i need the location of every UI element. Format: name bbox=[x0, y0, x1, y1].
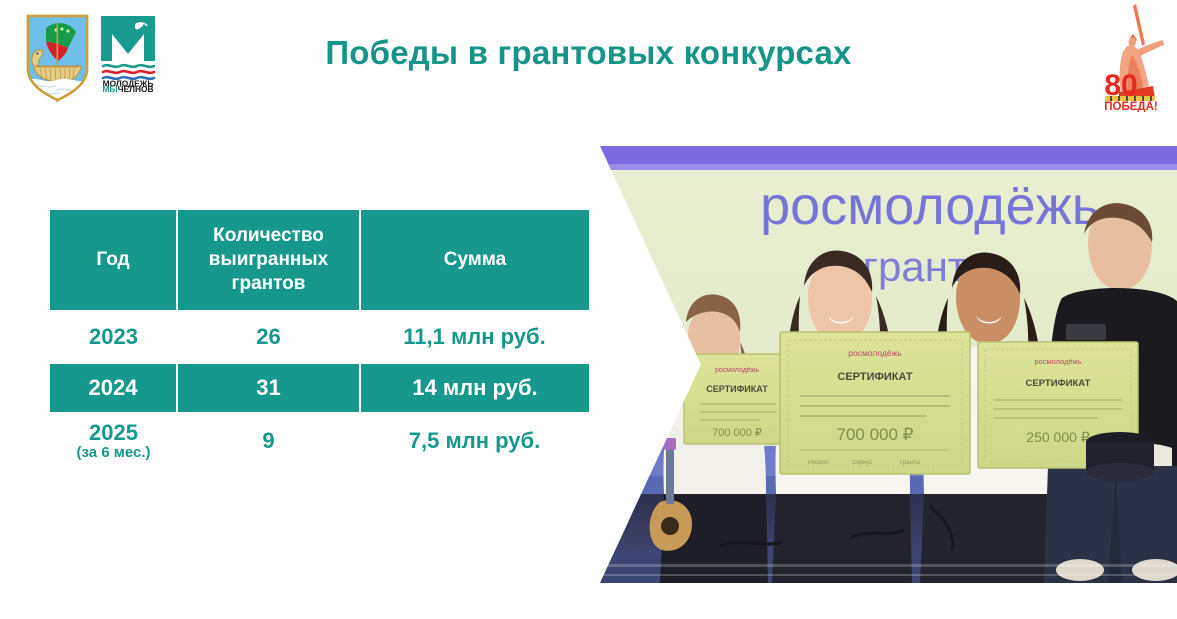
youth-logo-line2: ЧЕЛНОВ bbox=[118, 84, 154, 92]
table-header-row: Год Количество выигранных грантов Сумма bbox=[50, 210, 589, 310]
column-header-count-line3: грантов bbox=[232, 273, 306, 294]
column-header-sum-label: Сумма bbox=[444, 249, 506, 270]
column-header-year: Год bbox=[50, 210, 177, 310]
cell-count: 26 bbox=[177, 310, 360, 364]
certificate-brand-3: росмолодёжь bbox=[1034, 357, 1081, 366]
column-header-year-label: Год bbox=[96, 249, 129, 270]
cell-sum: 7,5 млн руб. bbox=[360, 412, 589, 470]
table-body: 2023 26 11,1 млн руб. 2024 31 14 млн руб… bbox=[50, 310, 589, 470]
drum-kit bbox=[1086, 432, 1154, 481]
cell-year: 2025 (за 6 мес.) bbox=[50, 412, 177, 470]
youth-logo-line2-highlight: МЫ bbox=[102, 84, 117, 92]
certificate-1: росмолодёжь СЕРТИФИКАТ 700 000 ₽ bbox=[684, 354, 790, 444]
svg-text:Сириус: Сириус bbox=[852, 460, 872, 466]
svg-text:Росмол: Росмол bbox=[808, 460, 829, 466]
column-header-sum: Сумма bbox=[360, 210, 589, 310]
certificate-2: росмолодёжь СЕРТИФИКАТ 700 000 ₽ РосмолС… bbox=[780, 332, 970, 474]
cell-year-value: 2024 bbox=[50, 376, 176, 400]
table-row: 2023 26 11,1 млн руб. bbox=[50, 310, 589, 364]
victory-badge-label: ПОБЕДА! bbox=[1104, 101, 1157, 112]
cell-year-value: 2025 bbox=[50, 421, 177, 445]
column-header-count-line1: Количество bbox=[213, 225, 324, 246]
cell-year: 2024 bbox=[50, 364, 177, 412]
certificate-title-2: СЕРТИФИКАТ bbox=[837, 371, 913, 383]
grants-results-table: Год Количество выигранных грантов Сумма … bbox=[50, 210, 589, 470]
cell-sum: 11,1 млн руб. bbox=[360, 310, 589, 364]
page-title: Победы в грантовых конкурсах bbox=[0, 34, 1177, 72]
svg-text:700 000 ₽: 700 000 ₽ bbox=[837, 425, 914, 444]
certificate-title-1: СЕРТИФИКАТ bbox=[706, 384, 768, 394]
grant-winners-photo: росмолодёжь гранты ИН bbox=[600, 146, 1177, 583]
cell-year: 2023 bbox=[50, 310, 177, 364]
slide-root: МОЛОДЕЖЬ МЫЧЕЛНОВ Победы в грантовых кон… bbox=[0, 0, 1177, 619]
column-header-count-line2: выигранных bbox=[209, 249, 328, 270]
svg-text:МЫЧЕЛНОВ: МЫЧЕЛНОВ bbox=[102, 84, 153, 92]
cell-count: 9 bbox=[177, 412, 360, 470]
cell-year-value: 2023 bbox=[50, 325, 177, 349]
victory-80-badge: 80 ПОБЕДА! bbox=[1097, 0, 1173, 112]
cell-sum: 14 млн руб. bbox=[360, 364, 589, 412]
svg-text:700 000 ₽: 700 000 ₽ bbox=[712, 427, 762, 439]
svg-text:Гранты: Гранты bbox=[900, 460, 920, 466]
certificate-title-3: СЕРТИФИКАТ bbox=[1026, 378, 1091, 389]
certificate-brand-2: росмолодёжь bbox=[848, 348, 902, 358]
cell-count: 31 bbox=[177, 364, 360, 412]
table-row: 2025 (за 6 мес.) 9 7,5 млн руб. bbox=[50, 412, 589, 470]
column-header-count: Количество выигранных грантов bbox=[177, 210, 360, 310]
table-row: 2024 31 14 млн руб. bbox=[50, 364, 589, 412]
table-header: Год Количество выигранных грантов Сумма bbox=[50, 210, 589, 310]
screen-brand-text: росмолодёжь bbox=[760, 176, 1100, 236]
cell-year-note: (за 6 мес.) bbox=[50, 444, 177, 461]
certificate-brand-1: росмолодёжь bbox=[715, 367, 759, 374]
svg-text:250 000 ₽: 250 000 ₽ bbox=[1026, 429, 1089, 445]
